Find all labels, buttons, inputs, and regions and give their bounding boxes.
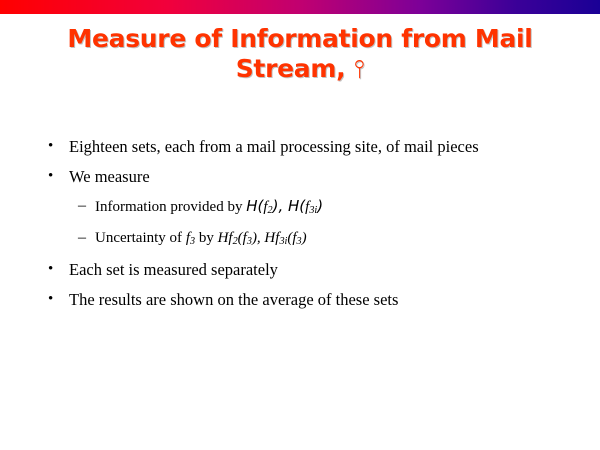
bullet-text: Eighteen sets, each from a mail processi… <box>69 136 562 157</box>
bullet-text: We measure <box>69 166 562 187</box>
sub-list-item: – Uncertainty of f3 by Hf2(f3), Hf3i(f3) <box>78 228 562 252</box>
title-line-2-text: Stream, <box>236 54 354 83</box>
bullet-text: Each set is measured separately <box>69 259 562 280</box>
title-set-symbol: ⫯ <box>354 54 365 83</box>
bullet-marker: • <box>48 136 69 157</box>
list-item: • Eighteen sets, each from a mail proces… <box>48 136 562 157</box>
title-line-1: Measure of Information from Mail <box>30 24 570 54</box>
title-line-2: Stream, ⫯ <box>30 54 570 84</box>
list-item: • We measure <box>48 166 562 187</box>
sub-bullet-lead: Uncertainty of <box>95 230 186 246</box>
math-expression: f3 <box>186 230 195 246</box>
bullet-marker: • <box>48 166 69 187</box>
bullet-marker: • <box>48 259 69 280</box>
math-expression: Hf2(f3), Hf3i(f3) <box>218 230 307 246</box>
list-item: • Each set is measured separately <box>48 259 562 280</box>
bullet-marker: • <box>48 289 69 310</box>
sub-bullet-text: Information provided by H(f2), H(f3i) <box>95 196 562 221</box>
sub-bullet-marker: – <box>78 228 95 248</box>
sub-bullet-lead: Information provided by <box>95 199 246 215</box>
bullet-text: The results are shown on the average of … <box>69 289 562 310</box>
sub-list-item: – Information provided by H(f2), H(f3i) <box>78 196 562 221</box>
sub-bullet-text: Uncertainty of f3 by Hf2(f3), Hf3i(f3) <box>95 228 562 252</box>
math-expression: H(f2), H(f3i) <box>246 197 323 215</box>
slide-title: Measure of Information from Mail Stream,… <box>30 24 570 84</box>
top-gradient-banner <box>0 0 600 14</box>
list-item: • The results are shown on the average o… <box>48 289 562 310</box>
sub-bullet-marker: – <box>78 196 95 216</box>
slide-body: • Eighteen sets, each from a mail proces… <box>48 136 562 319</box>
